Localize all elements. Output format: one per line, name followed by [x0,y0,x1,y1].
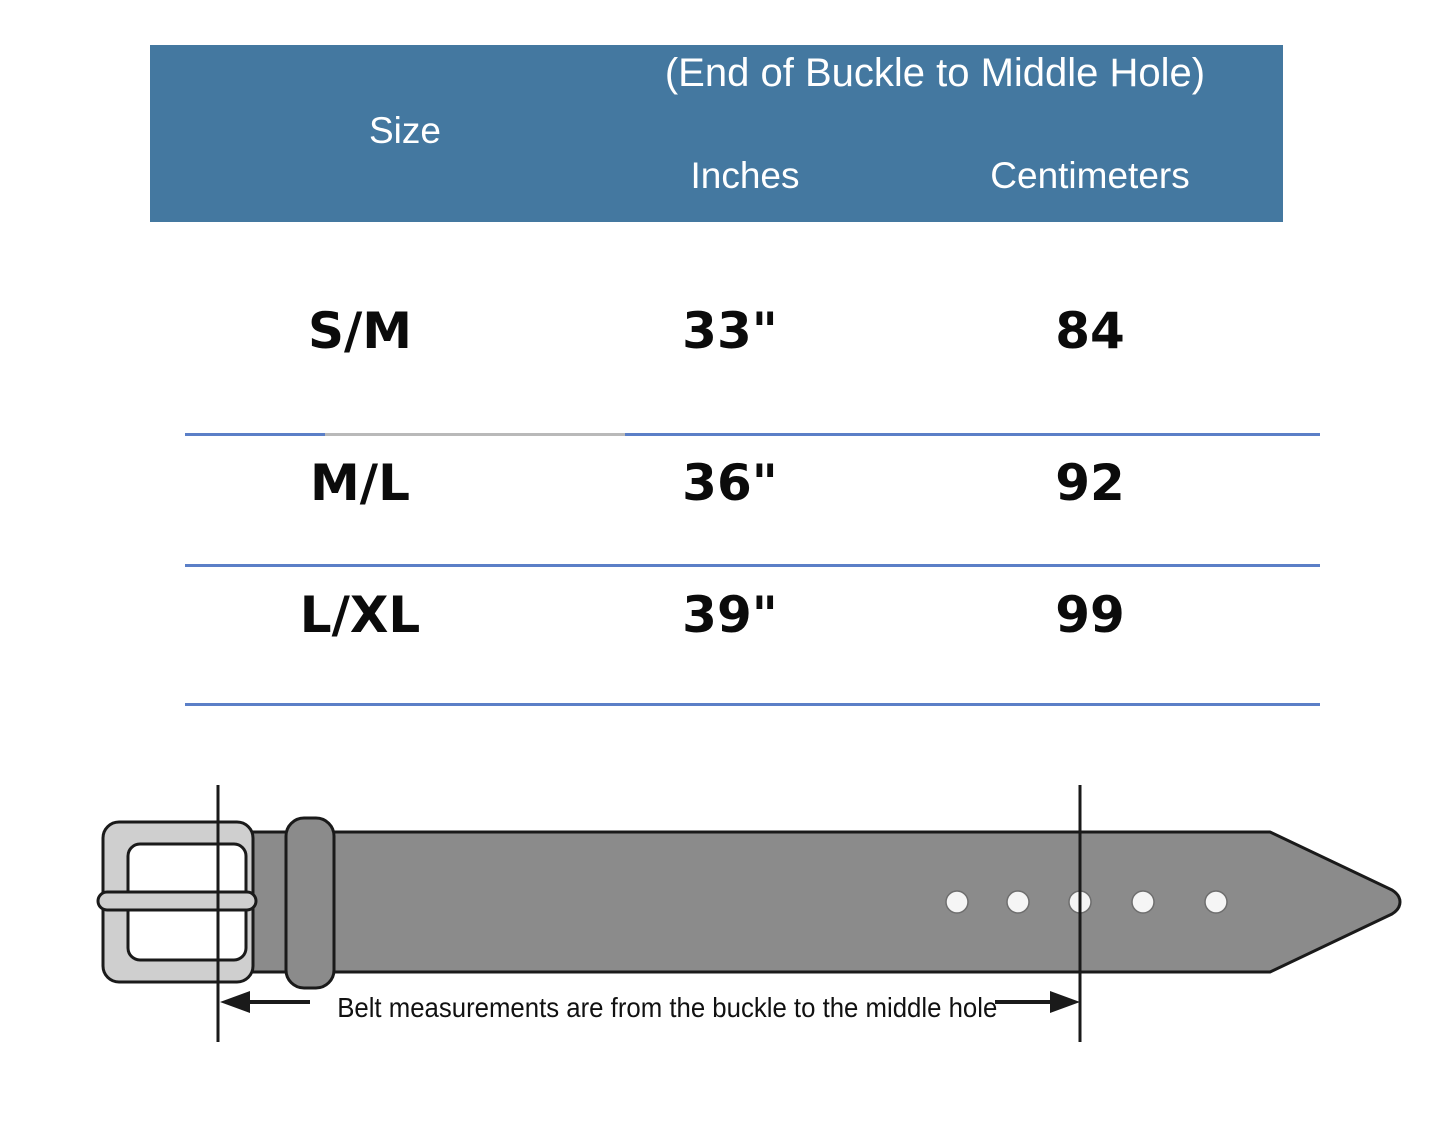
row-divider [185,433,1320,436]
column-header-centimeters: Centimeters [880,155,1300,197]
table-row: M/L 36" 92 [150,440,1325,580]
column-header-inches: Inches [600,155,890,197]
belt-illustration: Belt measurements are from the buckle to… [0,740,1445,1123]
table-row: S/M 33" 84 [150,288,1325,428]
belt-keeper-loop [286,818,334,988]
belt-hole [946,891,968,913]
table-row: L/XL 39" 99 [150,572,1325,712]
cell-size: M/L [210,440,510,526]
table-header-title: (End of Buckle to Middle Hole) [590,51,1280,96]
size-chart-table: (End of Buckle to Middle Hole) Size Inch… [0,0,1445,740]
row-divider [185,703,1320,706]
cell-inches: 33" [580,288,880,374]
belt-hole [1132,891,1154,913]
arrowhead-left-icon [220,991,250,1013]
cell-centimeters: 84 [940,288,1240,374]
column-header-size: Size [285,110,525,152]
diagram-caption: Belt measurements are from the buckle to… [337,992,963,1024]
row-divider [185,564,1320,567]
table-header-band: (End of Buckle to Middle Hole) Size Inch… [150,45,1283,222]
cell-inches: 36" [580,440,880,526]
cell-inches: 39" [580,572,880,658]
cell-centimeters: 99 [940,572,1240,658]
belt-hole [1007,891,1029,913]
arrowhead-right-icon [1050,991,1080,1013]
cell-size: S/M [210,288,510,374]
cell-size: L/XL [210,572,510,658]
cell-centimeters: 92 [940,440,1240,526]
buckle-prong [98,892,256,910]
belt-svg [0,740,1445,1123]
belt-hole [1205,891,1227,913]
